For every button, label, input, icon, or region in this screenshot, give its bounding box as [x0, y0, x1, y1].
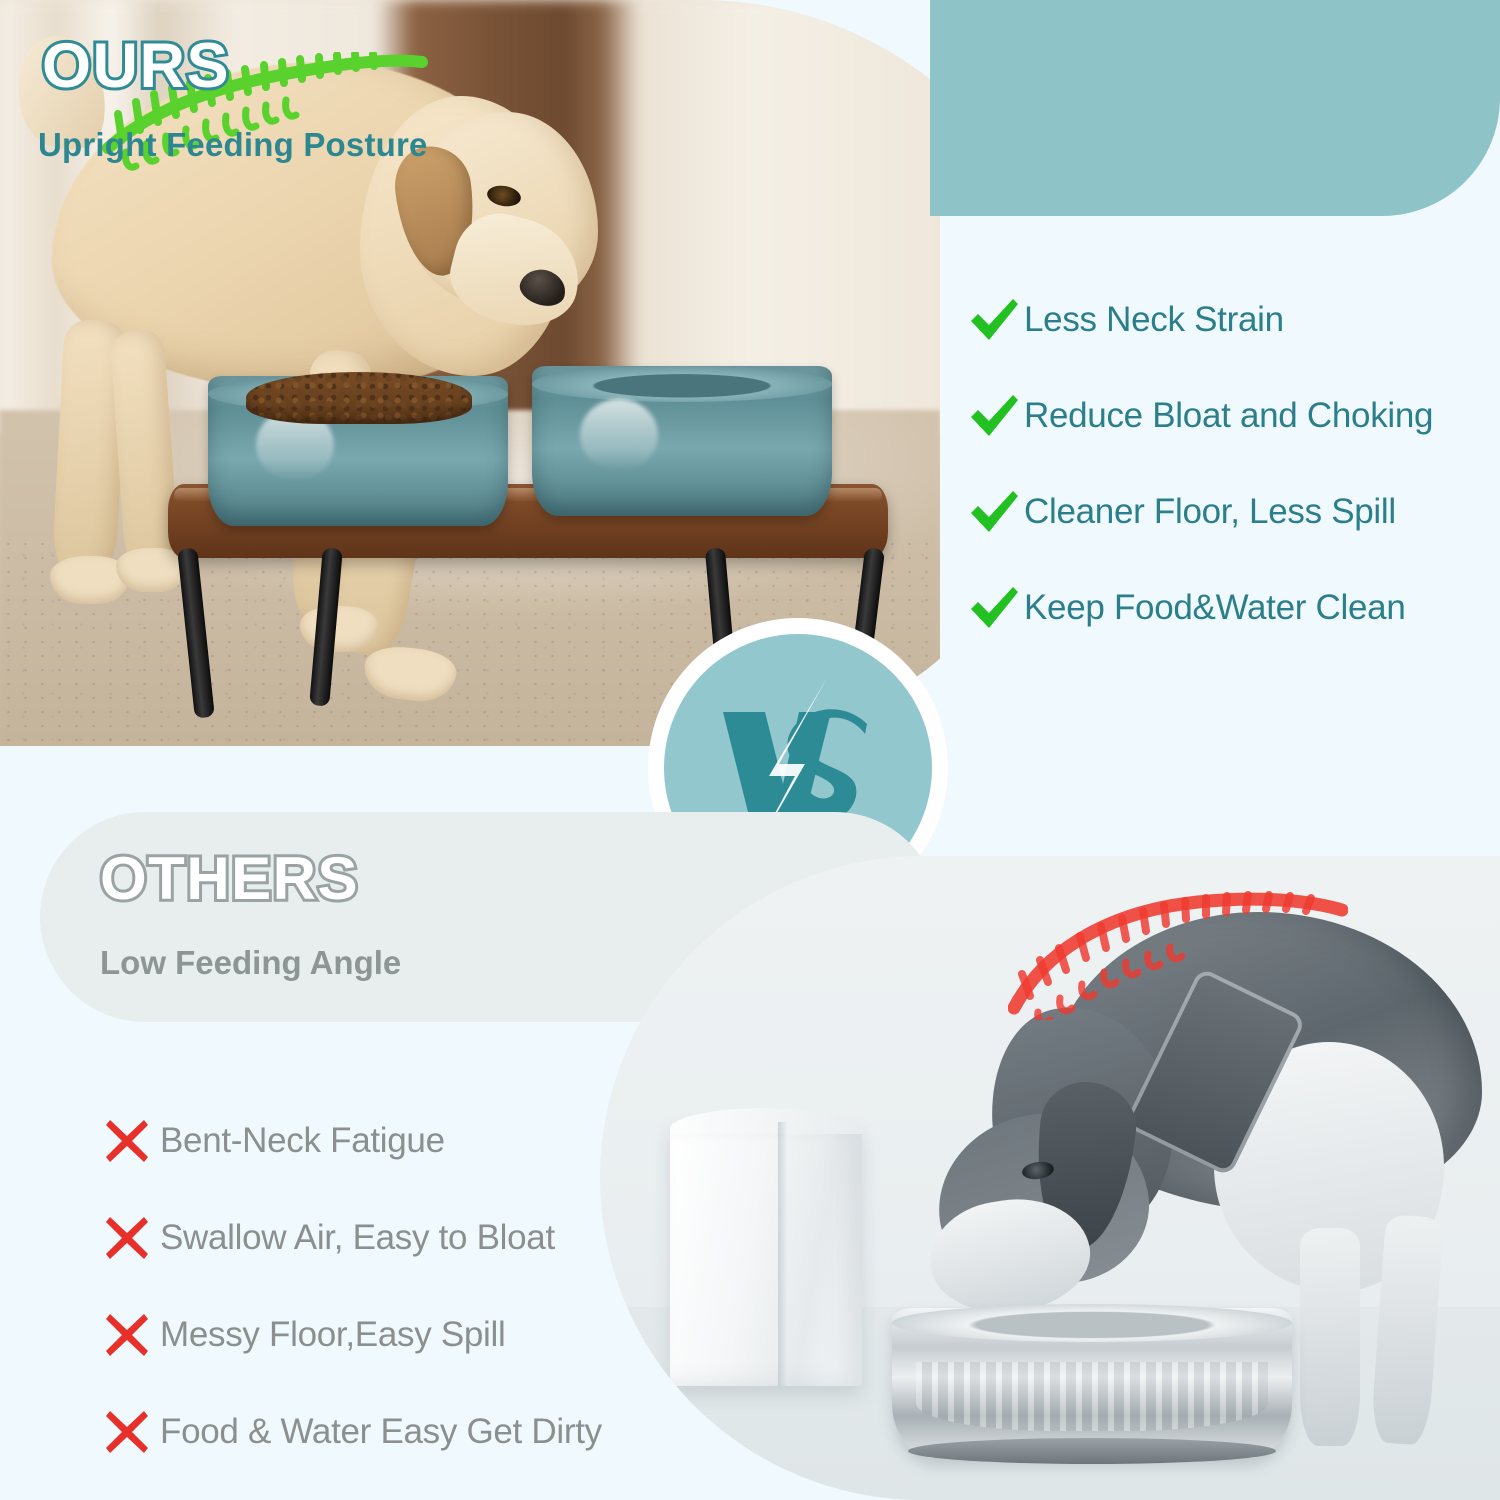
others-title: OTHERS: [100, 844, 359, 913]
cross-icon: [104, 1118, 160, 1164]
dog-paw-front-left: [300, 606, 378, 652]
ours-benefits-list: Less Neck Strain Reduce Bloat and Chokin…: [968, 272, 1488, 656]
benefit-label: Reduce Bloat and Choking: [1024, 396, 1433, 436]
check-icon: [968, 489, 1024, 535]
benefit-item: Reduce Bloat and Choking: [968, 368, 1488, 464]
cross-icon: [104, 1409, 160, 1455]
bowl-reflection-texture: [916, 1362, 1268, 1431]
benefit-label: Less Neck Strain: [1024, 300, 1284, 340]
benefit-item: Less Neck Strain: [968, 272, 1488, 368]
ours-title: OURS: [42, 30, 230, 102]
check-icon: [968, 297, 1024, 343]
ours-subtitle: Upright Feeding Posture: [38, 126, 428, 164]
drawback-label: Swallow Air, Easy to Bloat: [160, 1218, 555, 1258]
comparison-infographic: OURS Upright Feeding Posture Less Neck S…: [0, 0, 1500, 1500]
others-subtitle: Low Feeding Angle: [100, 944, 401, 982]
drawback-label: Bent-Neck Fatigue: [160, 1121, 445, 1161]
cross-icon: [104, 1215, 160, 1261]
check-icon: [968, 585, 1024, 631]
red-spine-overlay-icon: [1008, 890, 1348, 1020]
benefit-item: Cleaner Floor, Less Spill: [968, 464, 1488, 560]
ceramic-water-bowl: [532, 366, 832, 516]
benefit-item: Keep Food&Water Clean: [968, 560, 1488, 656]
cross-icon: [104, 1312, 160, 1358]
benefit-label: Cleaner Floor, Less Spill: [1024, 492, 1396, 532]
kibble-food: [246, 372, 472, 424]
beagle-front-leg-left: [1300, 1228, 1360, 1446]
food-bag: [670, 1122, 862, 1386]
check-icon: [968, 393, 1024, 439]
stainless-steel-bowl: [892, 1308, 1292, 1458]
drawback-label: Food & Water Easy Get Dirty: [160, 1412, 602, 1452]
others-photo: [600, 856, 1500, 1500]
benefit-label: Keep Food&Water Clean: [1024, 588, 1406, 628]
ours-header-panel: [930, 0, 1500, 216]
drawback-label: Messy Floor,Easy Spill: [160, 1315, 505, 1355]
